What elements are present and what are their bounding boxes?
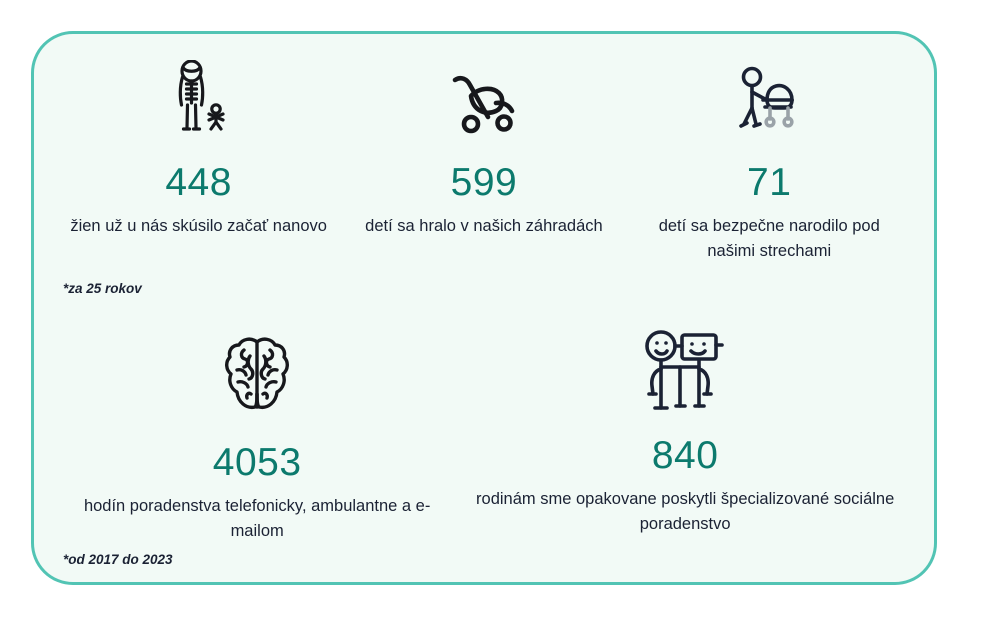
stat-children: 599 detí sa hralo v našich záhradách [341, 48, 626, 264]
stat-value: 840 [468, 436, 902, 475]
stat-hours: 4053 hodín poradenstva telefonicky, ambu… [56, 318, 458, 544]
stat-women: 448 žien už u nás skúsilo začať nanovo [56, 48, 341, 264]
stat-value: 4053 [66, 443, 448, 482]
stats-card: 448 žien už u nás skúsilo začať nanovo 5… [31, 31, 937, 585]
stat-label: hodín poradenstva telefonicky, ambulantn… [66, 494, 448, 544]
stat-value: 599 [351, 163, 616, 202]
stroller-icon [351, 48, 616, 134]
person-pushing-pram-icon [637, 48, 902, 134]
stat-families: 840 rodinám sme opakovane poskytli špeci… [458, 318, 912, 544]
stat-label: žien už u nás skúsilo začať nanovo [66, 214, 331, 239]
stat-label: detí sa hralo v našich záhradách [351, 214, 616, 239]
stats-row-bottom: 4053 hodín poradenstva telefonicky, ambu… [34, 318, 934, 544]
stat-label: rodinám sme opakovane poskytli špecializ… [468, 487, 902, 537]
woman-with-child-icon [66, 48, 331, 134]
stats-row-top: 448 žien už u nás skúsilo začať nanovo 5… [34, 34, 934, 264]
footnote-top: *za 25 rokov [63, 281, 142, 296]
footnote-bottom: *od 2017 do 2023 [63, 552, 173, 567]
stat-value: 71 [637, 163, 902, 202]
two-people-icon [468, 318, 902, 414]
brain-icon [66, 318, 448, 414]
stat-births: 71 detí sa bezpečne narodilo pod našimi … [627, 48, 912, 264]
stat-value: 448 [66, 163, 331, 202]
stat-label: detí sa bezpečne narodilo pod našimi str… [637, 214, 902, 264]
